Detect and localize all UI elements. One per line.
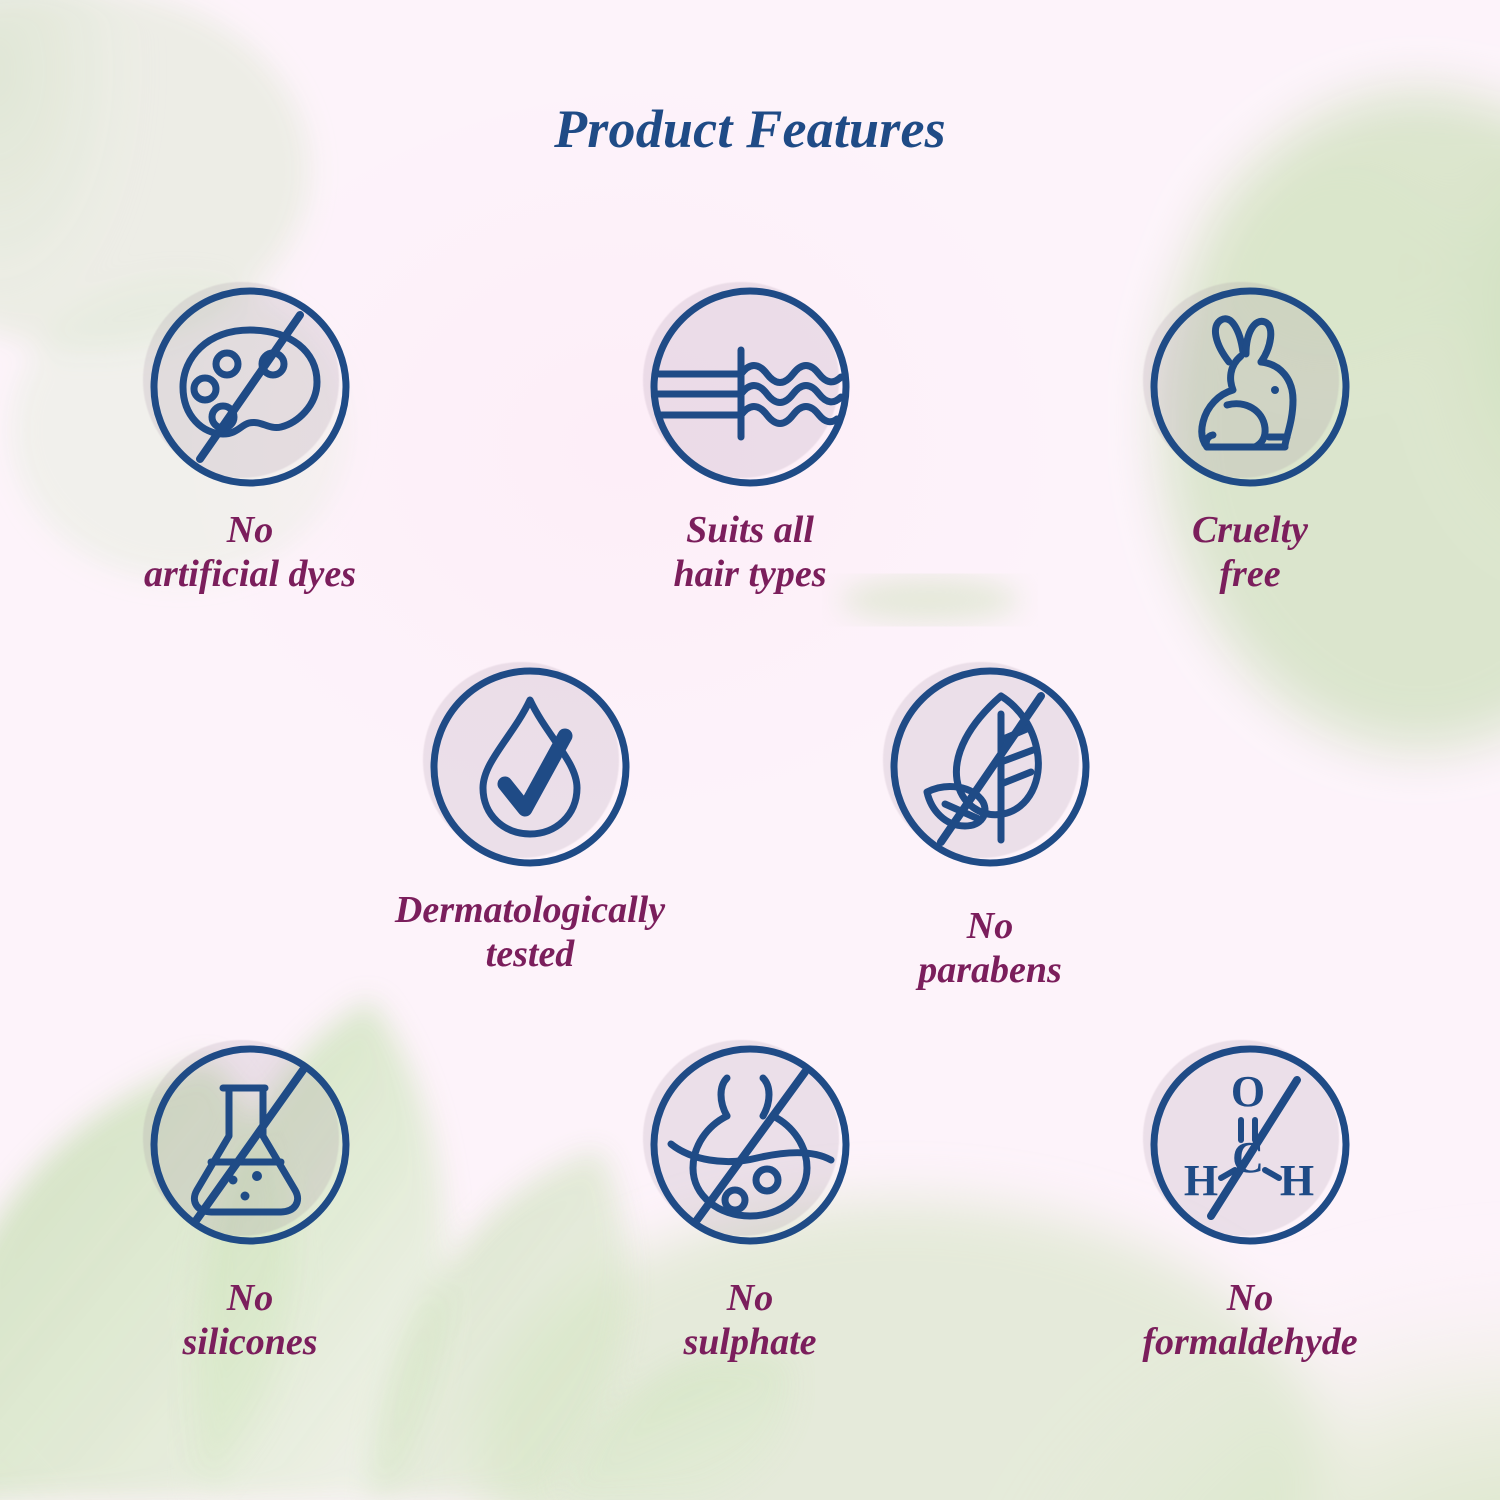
row2-spacer-right <box>1210 662 1500 992</box>
feature-label: No silicones <box>0 1276 500 1364</box>
row2-spacer-left <box>0 662 290 992</box>
feature-label: Dermatologically tested <box>290 888 770 976</box>
feature-row-1: No artificial dyes <box>0 282 1500 596</box>
badge-no-artificial-dyes <box>145 282 355 492</box>
badge-cruelty-free <box>1145 282 1355 492</box>
feature-no-formaldehyde[interactable]: O C H H No formaldehyde <box>1000 1040 1500 1364</box>
feature-no-silicones[interactable]: No silicones <box>0 1040 500 1364</box>
rabbit-icon <box>1145 282 1355 492</box>
feature-label: Suits all hair types <box>500 508 1000 596</box>
feature-no-sulphate[interactable]: No sulphate <box>500 1040 1000 1364</box>
feature-suits-all-hair-types[interactable]: Suits all hair types <box>500 282 1000 596</box>
feature-no-parabens[interactable]: No parabens <box>770 662 1210 992</box>
badge-no-formaldehyde: O C H H <box>1145 1040 1355 1250</box>
leaf-slashed-icon <box>885 662 1095 872</box>
feature-cruelty-free[interactable]: Cruelty free <box>1000 282 1500 596</box>
paint-palette-slashed-icon <box>145 282 355 492</box>
formaldehyde-molecule-slashed-icon: O C H H <box>1145 1040 1355 1250</box>
feature-row-2: Dermatologically tested <box>0 662 1500 992</box>
straight-and-wavy-hair-icon <box>645 282 855 492</box>
atom-h-left-label: H <box>1184 1156 1218 1205</box>
feature-label: No parabens <box>770 904 1210 992</box>
page-title: Product Features <box>0 98 1500 160</box>
feature-no-artificial-dyes[interactable]: No artificial dyes <box>0 282 500 596</box>
feature-label: No sulphate <box>500 1276 1000 1364</box>
badge-no-parabens <box>885 662 1095 872</box>
feature-row-3: No silicones <box>0 1040 1500 1364</box>
feature-label: Cruelty free <box>1000 508 1500 596</box>
feature-dermatologically-tested[interactable]: Dermatologically tested <box>290 662 770 992</box>
badge-no-sulphate <box>645 1040 855 1250</box>
atom-o-label: O <box>1231 1067 1265 1116</box>
feature-label: No formaldehyde <box>1000 1276 1500 1364</box>
badge-no-silicones <box>145 1040 355 1250</box>
badge-dermatologically-tested <box>425 662 635 872</box>
flask-slashed-icon <box>145 1040 355 1250</box>
shampoo-bottle-bubbles-slashed-icon <box>645 1040 855 1250</box>
feature-label: No artificial dyes <box>0 508 500 596</box>
badge-suits-all-hair-types <box>645 282 855 492</box>
atom-h-right-label: H <box>1280 1156 1314 1205</box>
water-droplet-checkmark-icon <box>425 662 635 872</box>
